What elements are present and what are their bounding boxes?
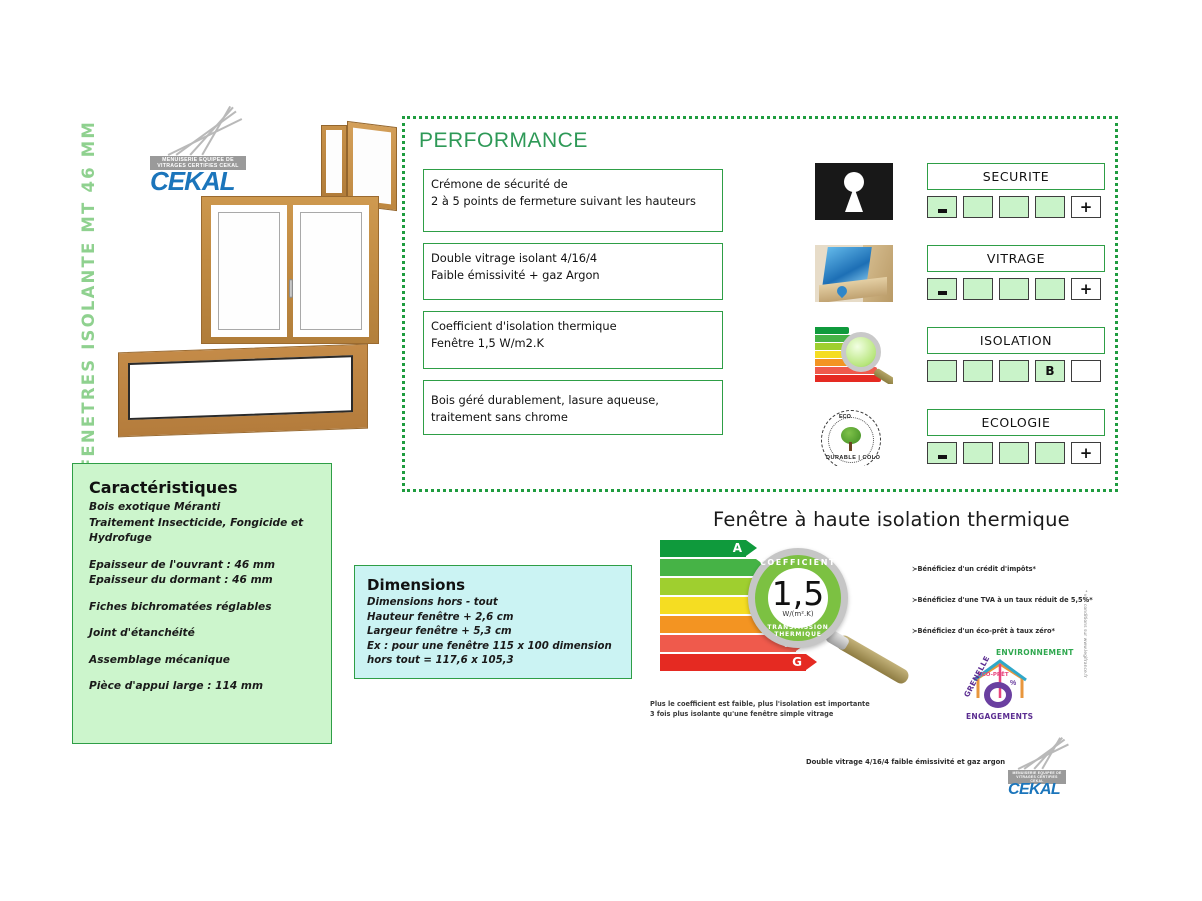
rating-row-vitrage: VITRAGE +	[815, 245, 1105, 327]
rating-scale-ecologie: +	[927, 442, 1105, 464]
scale-cell[interactable]	[1035, 278, 1065, 300]
open-sash-illustration	[321, 125, 397, 202]
carac-line: Epaisseur du dormant : 46 mm	[89, 573, 315, 589]
scale-cell[interactable]	[963, 442, 993, 464]
feature-box: Coefficient d'isolation thermique Fenêtr…	[423, 311, 723, 369]
carac-line: Pièce d'appui large : 114 mm	[89, 679, 315, 695]
performance-feature-list: Crémone de sécurité de 2 à 5 points de f…	[423, 169, 723, 446]
scale-cell[interactable]	[1035, 196, 1065, 218]
scale-cell[interactable]: +	[1071, 442, 1101, 464]
glazing-photo-icon	[815, 245, 893, 302]
energy-note: Plus le coefficient est faible, plus l'i…	[650, 700, 910, 719]
benefit-item: ≻Bénéficiez d'un crédit d'impôts*	[912, 565, 1097, 574]
dimension-line: Dimensions hors - tout	[367, 596, 619, 611]
scale-cell-rating-b[interactable]: B	[1035, 360, 1065, 382]
feature-box: Bois géré durablement, lasure aqueuse, t…	[423, 380, 723, 435]
promo-heading: Fenêtre à haute isolation thermique	[713, 508, 1070, 531]
rating-scale-securite: +	[927, 196, 1105, 218]
coefficient-value: 1,5	[772, 578, 824, 610]
carac-line: Bois exotique Méranti	[89, 500, 315, 516]
legal-footnote: * voir conditions sur www.legifrance.fr	[1082, 590, 1087, 678]
energy-bar-a: A	[660, 540, 746, 557]
cekal-wordmark: CEKAL	[1008, 782, 1066, 798]
carac-line: Traitement Insecticide, Fongicide et Hyd…	[89, 516, 315, 547]
energy-magnifier-icon	[815, 327, 893, 384]
caracteristiques-box: Caractéristiques Bois exotique Méranti T…	[72, 463, 332, 744]
scale-cell[interactable]	[963, 278, 993, 300]
benefit-item: ≻Bénéficiez d'un éco-prêt à taux zéro*	[912, 627, 1097, 636]
scale-cell[interactable]	[999, 196, 1029, 218]
scale-cell[interactable]	[999, 360, 1029, 382]
dimension-line: Hauteur fenêtre + 2,6 cm	[367, 611, 619, 626]
grenelle-word: ENGAGEMENTS	[966, 712, 1033, 721]
scale-cell[interactable]: +	[1071, 278, 1101, 300]
window-product-photo	[118, 120, 408, 440]
performance-panel: PERFORMANCE Crémone de sécurité de 2 à 5…	[402, 116, 1118, 492]
window-handle-icon	[289, 279, 293, 298]
scale-cell[interactable]	[999, 442, 1029, 464]
feature-box: Crémone de sécurité de 2 à 5 points de f…	[423, 169, 723, 232]
scale-cell[interactable]	[999, 278, 1029, 300]
glazing-footer-text: Double vitrage 4/16/4 faible émissivité …	[806, 758, 1005, 766]
energy-bar-b	[660, 559, 756, 576]
rating-label: VITRAGE	[927, 245, 1105, 272]
dimensions-title: Dimensions	[367, 576, 619, 594]
coefficient-unit: W/(m².K)	[782, 610, 813, 618]
cekal-lines-icon	[1008, 752, 1066, 770]
rating-row-isolation: ISOLATION B	[815, 327, 1105, 409]
double-casement-window	[201, 196, 379, 344]
energy-bar-g: G	[660, 654, 806, 671]
rating-label: SECURITE	[927, 163, 1105, 190]
rating-label: ISOLATION	[927, 327, 1105, 354]
scale-cell[interactable]	[963, 360, 993, 382]
benefits-list: ≻Bénéficiez d'un crédit d'impôts* ≻Bénéf…	[912, 565, 1097, 658]
dimension-line: Largeur fenêtre + 5,3 cm	[367, 625, 619, 640]
carac-line: Assemblage mécanique	[89, 653, 315, 669]
rating-scale-vitrage: +	[927, 278, 1105, 300]
keyhole-icon	[815, 163, 893, 220]
rating-label: ECOLOGIE	[927, 409, 1105, 436]
scale-cell[interactable]	[1035, 442, 1065, 464]
product-side-title: FENETRES ISOLANTE MT 46 MM	[74, 120, 102, 450]
rating-scale-isolation: B	[927, 360, 1105, 382]
benefit-item: ≻Bénéficiez d'une TVA à un taux réduit d…	[912, 596, 1097, 605]
scale-cell[interactable]	[927, 196, 957, 218]
scale-cell[interactable]: +	[1071, 196, 1101, 218]
grenelle-word: ENVIRONNEMENT	[996, 648, 1074, 657]
rating-row-securite: SECURITE +	[815, 163, 1105, 245]
dimension-line: Ex : pour une fenêtre 115 x 100 dimensio…	[367, 640, 619, 669]
dimensions-box: Dimensions Dimensions hors - tout Hauteu…	[354, 565, 632, 679]
scale-cell[interactable]	[1071, 360, 1101, 382]
eco-stamp-icon: ECO DURABLE | COLO	[815, 409, 893, 466]
scale-cell[interactable]	[927, 360, 957, 382]
scale-cell[interactable]	[963, 196, 993, 218]
datasheet-page: FENETRES ISOLANTE MT 46 MM MENUISERIE EQ…	[0, 0, 1202, 901]
caracteristiques-title: Caractéristiques	[89, 478, 315, 497]
carac-line: Fiches bichromatées réglables	[89, 600, 315, 616]
low-window-illustration	[118, 344, 368, 438]
rating-row-ecologie: ECO DURABLE | COLO ECOLOGIE +	[815, 409, 1105, 491]
scale-cell[interactable]	[927, 442, 957, 464]
zero-percent-icon	[984, 682, 1012, 708]
performance-title: PERFORMANCE	[419, 129, 588, 153]
carac-line: Joint d'étanchéité	[89, 626, 315, 642]
scale-cell[interactable]	[927, 278, 957, 300]
grenelle-environnement-logo: ECO-PRÊT % GRENELLE ENVIRONNEMENT ENGAGE…	[952, 650, 1048, 730]
feature-box: Double vitrage isolant 4/16/4 Faible émi…	[423, 243, 723, 300]
side-title-text: FENETRES ISOLANTE MT 46 MM	[79, 120, 98, 470]
cekal-logo-bottom: MENUISERIE EQUIPEE DE VITRAGES CERTIFIES…	[1008, 752, 1066, 798]
rating-rows: SECURITE +	[815, 163, 1105, 491]
energy-label-chart: A F G COEFFICIENT TRANSMISSION THERMIQUE…	[660, 540, 910, 695]
carac-line: Epaisseur de l'ouvrant : 46 mm	[89, 558, 315, 574]
coefficient-badge: COEFFICIENT TRANSMISSION THERMIQUE 1,5 W…	[748, 548, 848, 648]
